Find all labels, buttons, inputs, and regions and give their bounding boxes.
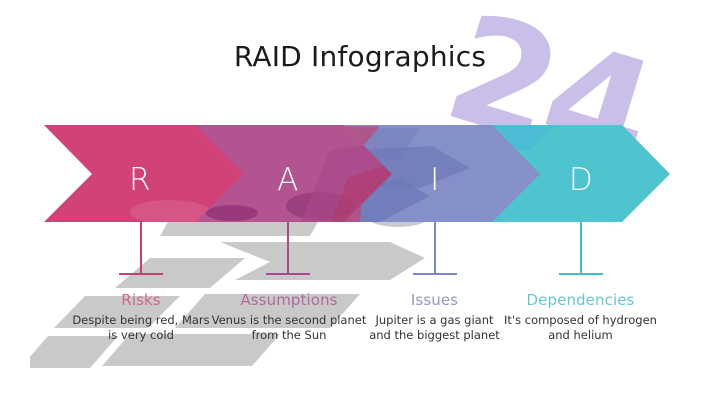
connector-line-r xyxy=(111,222,171,278)
caption-body-assumptions: Venus is the second planet from the Sun xyxy=(211,313,367,343)
caption-heading-dependencies: Dependencies xyxy=(503,291,658,310)
caption-issues: Issues Jupiter is a gas giant and the bi… xyxy=(367,291,502,343)
connector-stem-a xyxy=(287,222,289,274)
caption-heading-assumptions: Assumptions xyxy=(211,291,367,310)
connector-foot-d xyxy=(559,273,603,275)
caption-dependencies: Dependencies It's composed of hydrogen a… xyxy=(503,291,658,343)
connector-foot-a xyxy=(266,273,310,275)
connector-foot-r xyxy=(119,273,163,275)
page-title: RAID Infographics xyxy=(0,40,720,73)
chevron-letter-i: I xyxy=(405,160,465,200)
caption-heading-issues: Issues xyxy=(367,291,502,310)
chevron-letter-r: R xyxy=(110,160,170,200)
caption-body-risks: Despite being red, Mars is very cold xyxy=(66,313,216,343)
caption-assumptions: Assumptions Venus is the second planet f… xyxy=(211,291,367,343)
connector-foot-i xyxy=(413,273,457,275)
caption-risks: Risks Despite being red, Mars is very co… xyxy=(66,291,216,343)
connector-stem-r xyxy=(140,222,142,274)
connector-line-a xyxy=(258,222,318,278)
caption-heading-risks: Risks xyxy=(66,291,216,310)
caption-body-dependencies: It's composed of hydrogen and helium xyxy=(503,313,658,343)
connector-stem-d xyxy=(580,222,582,274)
infographic-slide: 24 xyxy=(0,0,720,406)
chevron-letter-d: D xyxy=(551,160,611,200)
caption-body-issues: Jupiter is a gas giant and the biggest p… xyxy=(367,313,502,343)
connector-line-i xyxy=(405,222,465,278)
connector-stem-i xyxy=(434,222,436,274)
connector-line-d xyxy=(551,222,611,278)
chevron-letter-a: A xyxy=(258,160,318,200)
